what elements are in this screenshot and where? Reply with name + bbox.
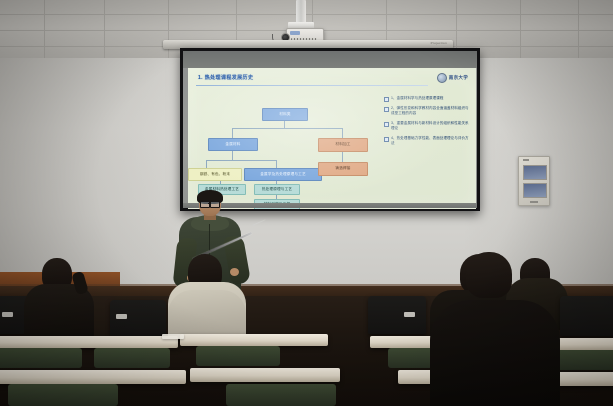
lecture-hall-scene: Projection 1. 热处理课程发展历史 南京大学: [0, 0, 613, 406]
seat: [8, 384, 118, 406]
slide-bullet-list: 1、金属材料学与热处理原理课程 2、弹性形变和科学教材内容全面涵盖材料组织与成型…: [384, 96, 472, 151]
student-shirt: [168, 290, 246, 338]
connector: [206, 160, 276, 161]
paper-sheet: [162, 334, 184, 339]
foreground-student-silhouette: [430, 300, 560, 406]
slide-title: 1. 热处理课程发展历史: [198, 74, 253, 81]
seat: [94, 348, 170, 368]
flow-node-sub1: 钢铁、有色、粉末: [188, 168, 242, 181]
list-item: 3、重要金属材料与新材料设计的组织和性能关系理论: [384, 121, 472, 132]
bullet-text: 2、弹性形变和科学教材内容全面涵盖材料组织与成型工程的内容: [391, 106, 472, 117]
presenter-right-hand: [230, 268, 239, 276]
desk: [0, 336, 178, 348]
connector: [206, 160, 207, 168]
projection-screen: 1. 热处理课程发展历史 南京大学: [180, 48, 480, 211]
square-bullet-icon: [384, 97, 389, 102]
connector: [232, 128, 233, 138]
list-item: 4、热处理基础力学性能、表面处理理论与评价方法: [384, 136, 472, 147]
flow-node-sub2: 金属学及热处理原理与工艺: [244, 168, 322, 181]
seat: [0, 348, 82, 368]
list-item: 1、金属材料学与热处理原理课程: [384, 96, 472, 102]
chair-tag: [404, 312, 415, 317]
foreground-student-head: [466, 252, 512, 298]
chair: [368, 296, 426, 334]
seat: [226, 384, 336, 406]
projector-label: [290, 31, 300, 35]
wall-control-panel[interactable]: [518, 156, 550, 206]
connector: [342, 128, 343, 138]
slide-flowchart: 材料类 金属材料 材料加工 钢铁、有色、粉末 金属学及热处理原理与工艺 铸造焊接…: [192, 88, 372, 206]
seat: [196, 346, 280, 366]
roller-label: Projection: [431, 41, 447, 45]
flow-node-leaf2: 热处理原理与工艺: [254, 184, 300, 195]
flow-node-root: 材料类: [262, 108, 308, 121]
desk: [180, 334, 328, 346]
panel-display-lower: [523, 183, 547, 198]
bullet-text: 4、热处理基础力学性能、表面处理理论与评价方法: [391, 136, 472, 147]
desk: [0, 370, 186, 384]
list-item: 2、弹性形变和科学教材内容全面涵盖材料组织与成型工程的内容: [384, 106, 472, 117]
chair-tag: [116, 314, 127, 319]
square-bullet-icon: [384, 107, 389, 112]
bullet-text: 1、金属材料学与热处理原理课程: [391, 96, 443, 101]
panel-bottom-label: [530, 201, 538, 203]
square-bullet-icon: [384, 122, 389, 127]
projected-slide: 1. 热处理课程发展历史 南京大学: [188, 68, 476, 209]
title-divider: [196, 85, 428, 86]
desk: [190, 368, 340, 382]
square-bullet-icon: [384, 137, 389, 142]
chair-tag: [2, 312, 13, 317]
panel-display-upper: [523, 165, 547, 180]
glasses-icon: [200, 201, 220, 206]
connector: [232, 150, 233, 160]
wall-shading-left: [0, 58, 190, 300]
panel-top-label: [523, 159, 529, 161]
screen-top-band: [183, 51, 477, 68]
flow-node-processing2: 铸造焊接: [318, 162, 368, 176]
connector: [276, 160, 277, 168]
flow-node-processing: 材料加工: [318, 138, 368, 152]
flow-node-metal: 金属材料: [208, 138, 258, 151]
university-seal-icon: [437, 73, 447, 83]
connector: [232, 128, 342, 129]
slide-header: 1. 热处理课程发展历史 南京大学: [196, 73, 470, 85]
university-logo: 南京大学: [437, 73, 468, 83]
university-name: 南京大学: [449, 75, 468, 81]
bullet-text: 3、重要金属材料与新材料设计的组织和性能关系理论: [391, 121, 472, 132]
chair: [560, 296, 613, 336]
